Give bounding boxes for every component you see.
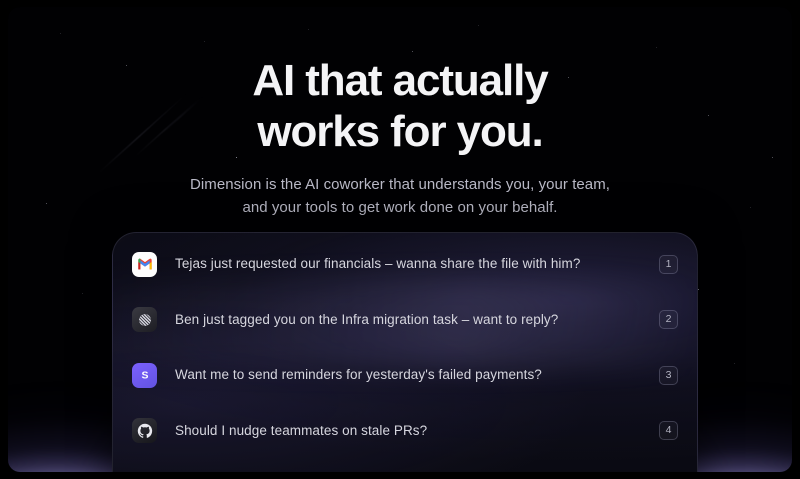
list-item[interactable]: Ben just tagged you on the Infra migrati… xyxy=(113,296,697,345)
app-viewport: AI that actually works for you. Dimensio… xyxy=(0,0,800,479)
page-subtitle: Dimension is the AI coworker that unders… xyxy=(8,173,792,219)
list-item[interactable]: Should I nudge teammates on stale PRs? 4 xyxy=(113,407,697,456)
subhead-line-1: Dimension is the AI coworker that unders… xyxy=(8,173,792,196)
github-icon xyxy=(132,418,157,443)
page-title: AI that actually works for you. xyxy=(8,55,792,157)
suggestions-panel: Tejas just requested our financials – wa… xyxy=(112,232,698,472)
subhead-line-2: and your tools to get work done on your … xyxy=(8,196,792,219)
shortcut-badge[interactable]: 1 xyxy=(659,255,678,274)
linear-icon xyxy=(132,307,157,332)
list-item-label: Tejas just requested our financials – wa… xyxy=(175,255,659,273)
list-item[interactable]: Tejas just requested our financials – wa… xyxy=(113,240,697,289)
list-item[interactable]: Want me to debug slow user queries? 5 xyxy=(113,462,697,472)
shortcut-badge[interactable]: 3 xyxy=(659,366,678,385)
list-item-label: Want me to send reminders for yesterday'… xyxy=(175,366,659,384)
shortcut-badge[interactable]: 2 xyxy=(659,310,678,329)
hero-section: AI that actually works for you. Dimensio… xyxy=(8,55,792,219)
stripe-icon: S xyxy=(132,363,157,388)
hero-stage: AI that actually works for you. Dimensio… xyxy=(8,7,792,472)
gmail-icon xyxy=(132,252,157,277)
list-item-label: Ben just tagged you on the Infra migrati… xyxy=(175,311,659,329)
headline-line-1: AI that actually xyxy=(252,56,547,105)
headline-line-2: works for you. xyxy=(8,106,792,157)
shortcut-badge[interactable]: 4 xyxy=(659,421,678,440)
list-item[interactable]: S Want me to send reminders for yesterda… xyxy=(113,351,697,400)
list-item-label: Should I nudge teammates on stale PRs? xyxy=(175,422,659,440)
svg-text:S: S xyxy=(141,371,148,382)
